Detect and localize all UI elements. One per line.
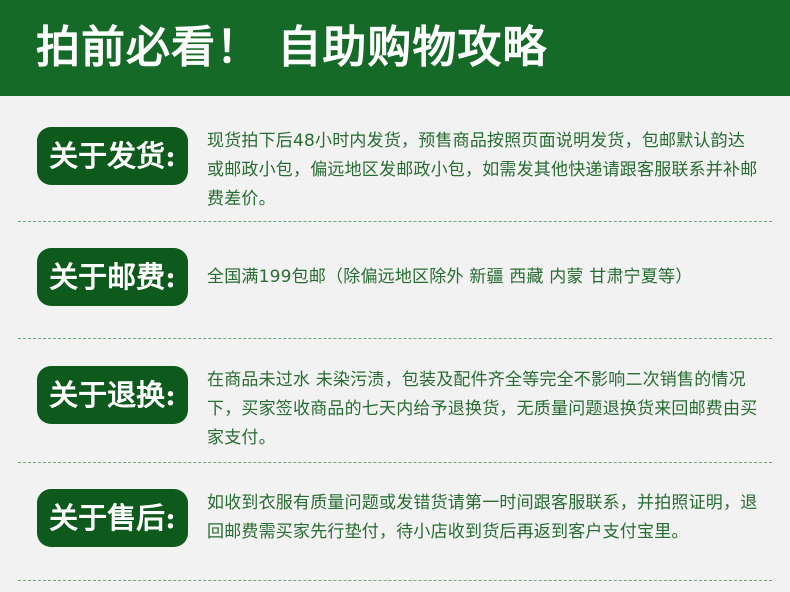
badge-returns: 关于退换: bbox=[37, 366, 188, 424]
policy-text-aftersales: 如收到衣服有质量问题或发错货请第一时间跟客服联系，并拍照证明，退回邮费需买家先行… bbox=[207, 489, 775, 547]
policy-sections: 关于发货: 现货拍下后48小时内发货，预售商品按照页面说明发货，包邮默认韵达或邮… bbox=[0, 96, 790, 581]
badge-label-shipping: 关于发货: bbox=[49, 141, 176, 171]
badge-label-aftersales: 关于售后: bbox=[49, 503, 176, 533]
policy-text-shipping: 现货拍下后48小时内发货，预售商品按照页面说明发货，包邮默认韵达或邮政小包，偏远… bbox=[207, 127, 775, 214]
policy-section-shipping: 关于发货: 现货拍下后48小时内发货，预售商品按照页面说明发货，包邮默认韵达或邮… bbox=[0, 96, 790, 221]
policy-section-returns: 关于退换: 在商品未过水 未染污渍，包装及配件齐全等完全不影响二次销售的情况下，… bbox=[0, 339, 790, 462]
badge-aftersales: 关于售后: bbox=[37, 489, 188, 547]
page-header: 拍前必看！ 自助购物攻略 bbox=[0, 0, 790, 96]
section-divider-bottom bbox=[18, 580, 772, 581]
page-title: 拍前必看！ 自助购物攻略 bbox=[36, 24, 547, 72]
badge-label-postage: 关于邮费: bbox=[49, 262, 176, 292]
policy-text-postage: 全国满199包邮（除偏远地区除外 新疆 西藏 内蒙 甘肃宁夏等） bbox=[207, 248, 775, 292]
shopping-guide-page: 拍前必看！ 自助购物攻略 关于发货: 现货拍下后48小时内发货，预售商品按照页面… bbox=[0, 0, 790, 592]
badge-label-returns: 关于退换: bbox=[49, 380, 176, 410]
policy-section-aftersales: 关于售后: 如收到衣服有质量问题或发错货请第一时间跟客服联系，并拍照证明，退回邮… bbox=[0, 463, 790, 580]
policy-text-returns: 在商品未过水 未染污渍，包装及配件齐全等完全不影响二次销售的情况下，买家签收商品… bbox=[207, 366, 775, 453]
badge-postage: 关于邮费: bbox=[37, 248, 188, 306]
policy-section-postage: 关于邮费: 全国满199包邮（除偏远地区除外 新疆 西藏 内蒙 甘肃宁夏等） bbox=[0, 222, 790, 338]
badge-shipping: 关于发货: bbox=[37, 127, 188, 185]
